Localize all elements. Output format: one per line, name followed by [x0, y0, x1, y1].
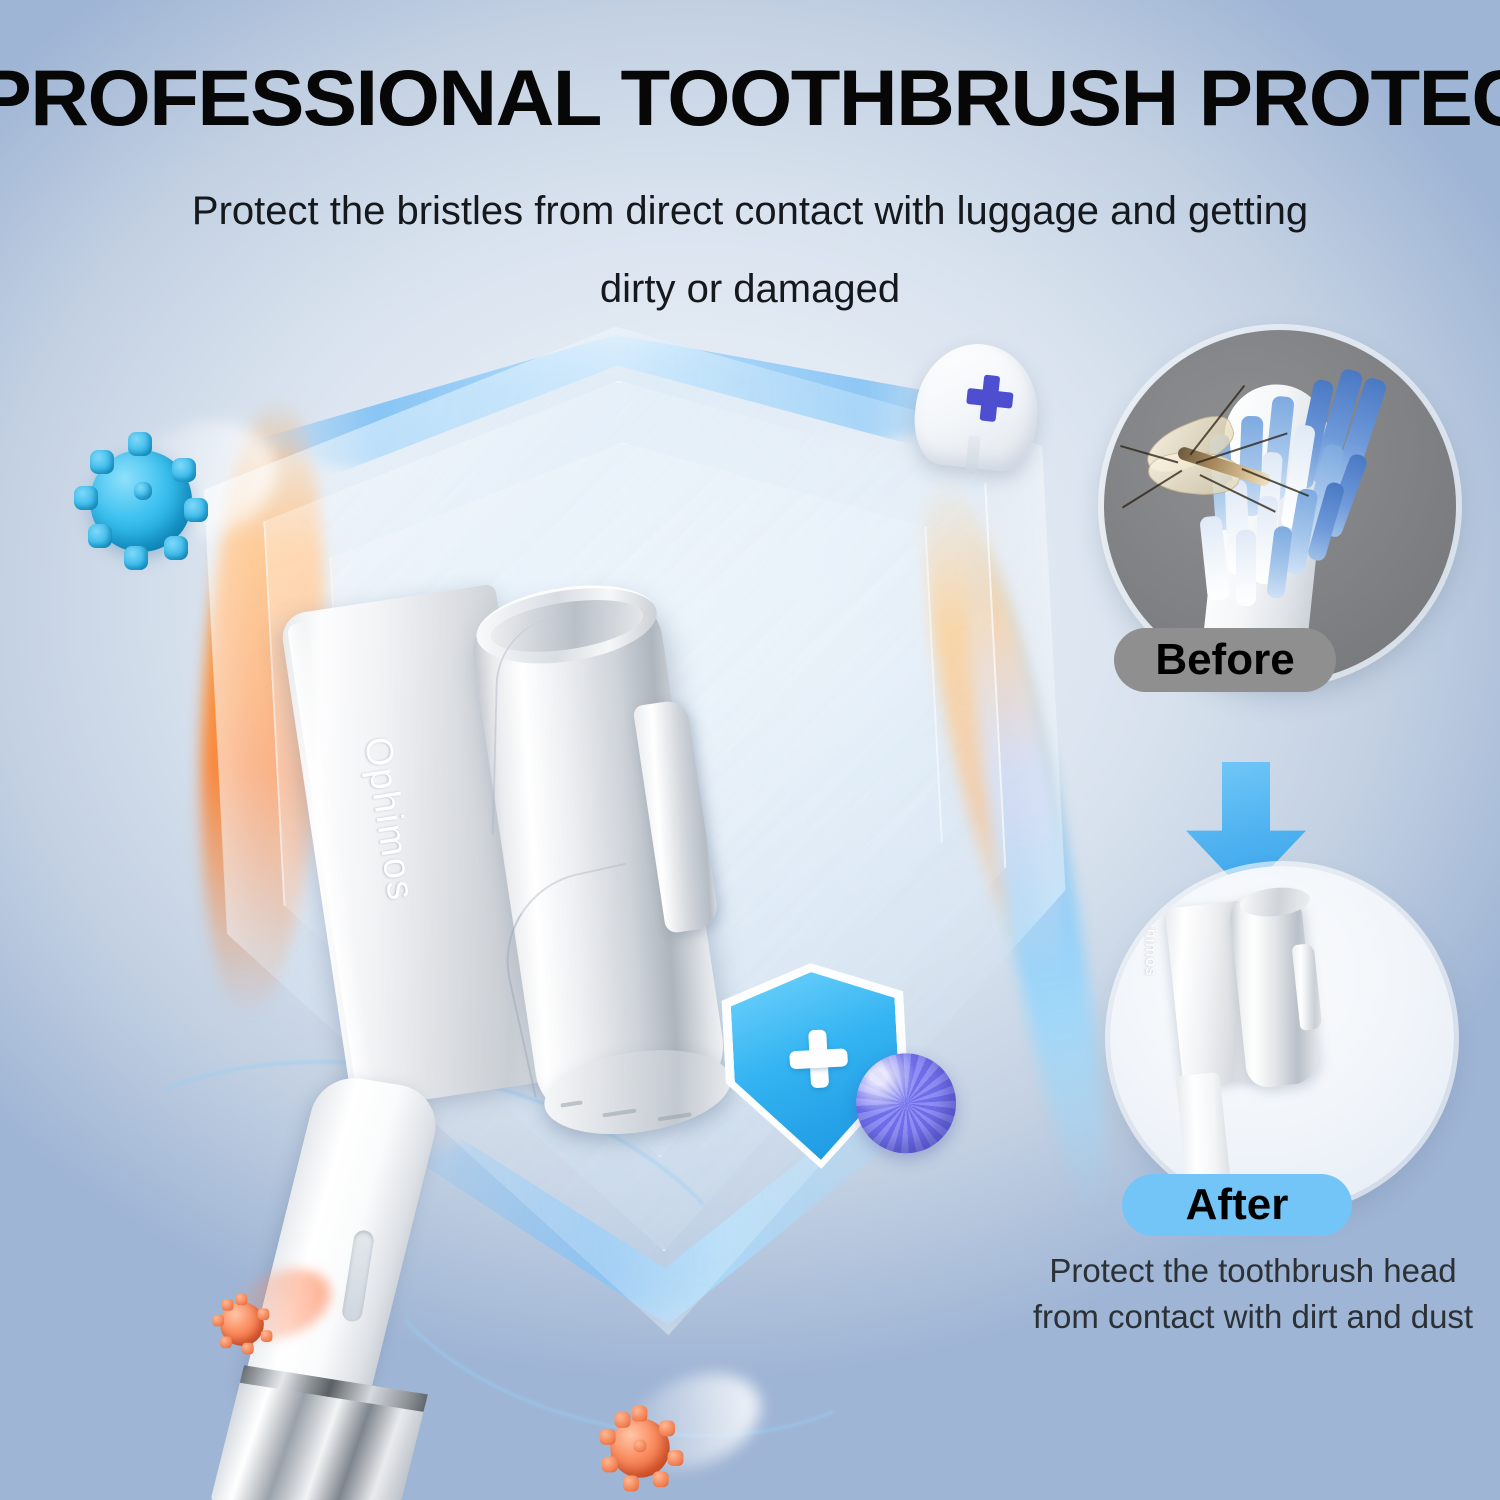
germ-cyan-icon [76, 436, 206, 566]
germ-orange-large-icon [602, 1410, 678, 1486]
shield-badge-icon [729, 968, 903, 1164]
mosquito-icon [1130, 390, 1290, 560]
subtitle-line-2: dirty or damaged [140, 250, 1360, 328]
tooth-icon [910, 338, 1044, 474]
page-headline: PROFESSIONAL TOOTHBRUSH PROTECTOR [0, 52, 1500, 144]
toothbrush-chrome-band [210, 1365, 428, 1500]
page-subtitle: Protect the bristles from direct contact… [140, 172, 1360, 328]
product-marketing-image: PROFESSIONAL TOOTHBRUSH PROTECTOR Protec… [0, 0, 1500, 1500]
shield-cross-icon [788, 1028, 849, 1089]
after-label-pill: After [1122, 1174, 1352, 1236]
toothbrush-neck [241, 1072, 446, 1413]
after-image-circle: Ophimos [1110, 866, 1454, 1210]
germ-orange-small-icon [214, 1296, 270, 1352]
after-brand-logo: Ophimos [1141, 883, 1159, 999]
cap-seam-upper [492, 615, 618, 838]
after-caption-line-1: Protect the toothbrush head [1006, 1248, 1500, 1294]
cross-icon [965, 373, 1016, 424]
before-label-pill: Before [1114, 628, 1336, 692]
subtitle-line-1: Protect the bristles from direct contact… [140, 172, 1360, 250]
after-caption: Protect the toothbrush head from contact… [1006, 1248, 1500, 1340]
after-caption-line-2: from contact with dirt and dust [1006, 1294, 1500, 1340]
